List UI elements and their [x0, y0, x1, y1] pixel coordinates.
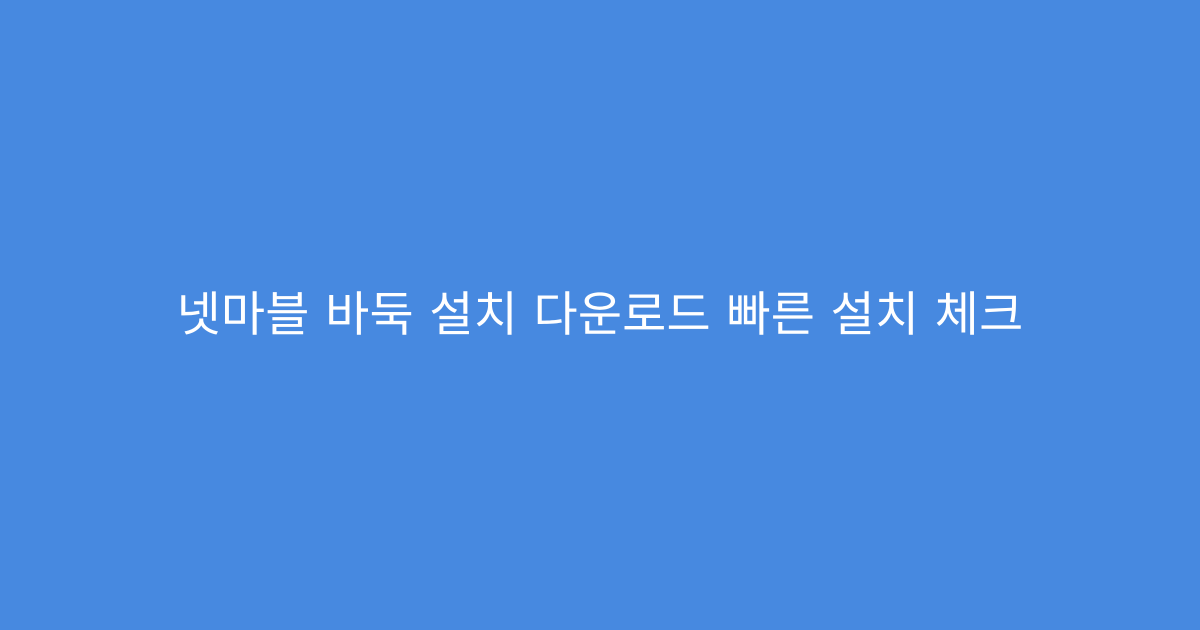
card-title: 넷마블 바둑 설치 다운로드 빠른 설치 체크: [177, 284, 1024, 346]
card-content: 넷마블 바둑 설치 다운로드 빠른 설치 체크: [60, 284, 1140, 346]
share-card: 넷마블 바둑 설치 다운로드 빠른 설치 체크: [0, 0, 1200, 630]
